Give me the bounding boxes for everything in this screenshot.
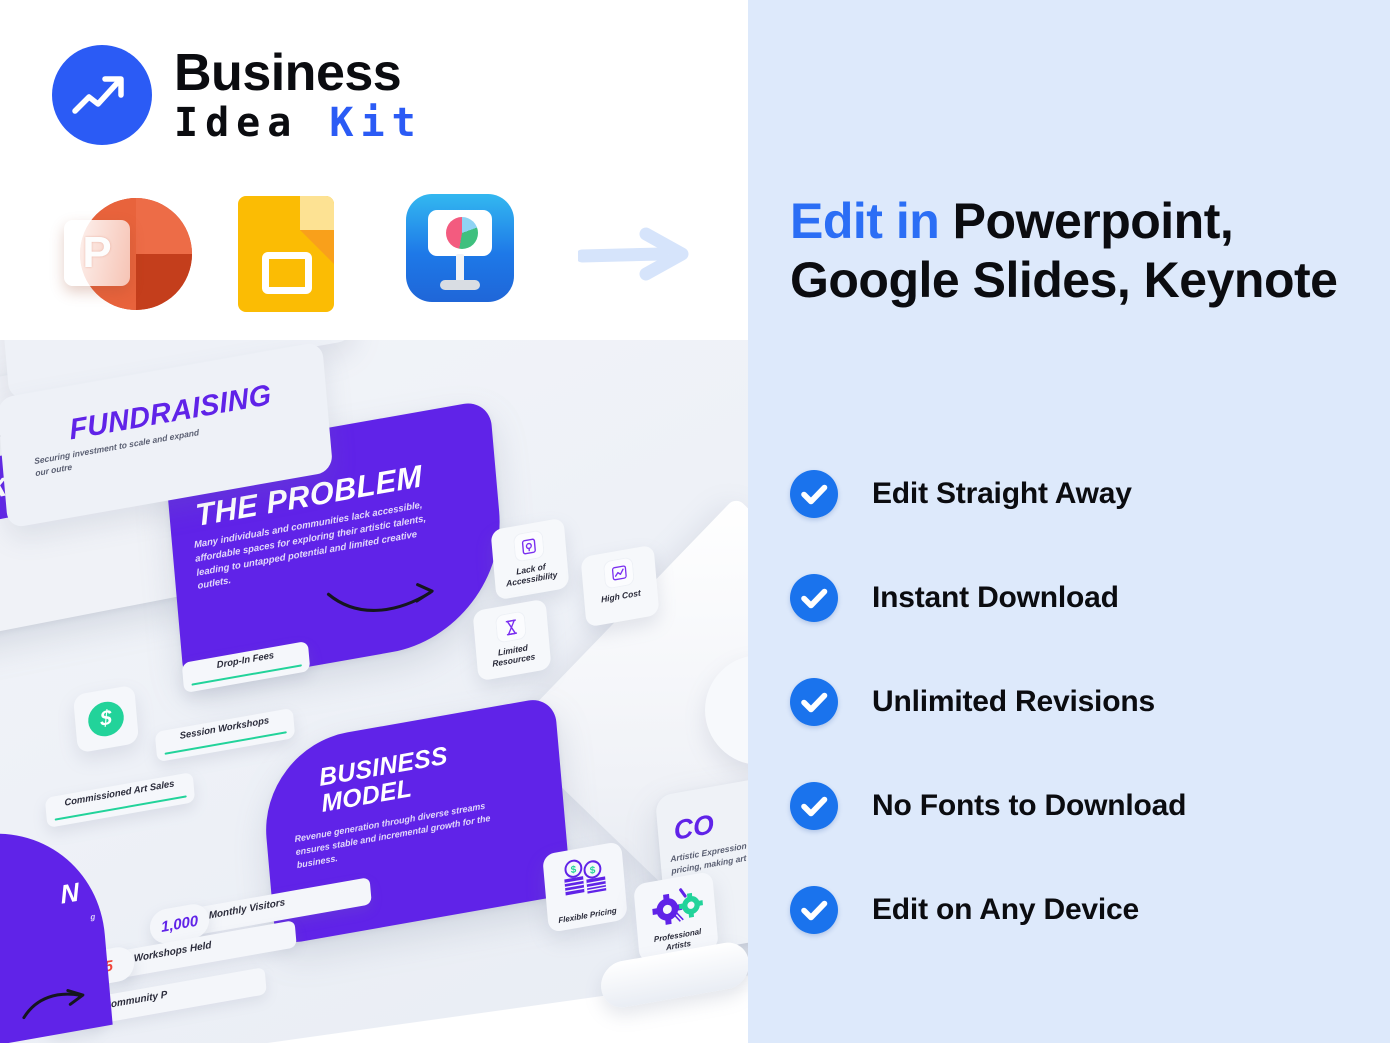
revenue-hub-node: $ (73, 685, 139, 754)
logo-wordmark: Business Idea Kit (174, 47, 423, 143)
competitive-title: CO (673, 809, 716, 847)
page-title: Edit in Powerpoint, Google Slides, Keyno… (790, 192, 1370, 309)
revenue-stream-label: Commissioned Art Sales (64, 778, 175, 808)
feature-item-instant-download: Instant Download (790, 546, 1370, 650)
logo-kit-text: Kit (329, 100, 422, 146)
check-circle-icon (790, 782, 838, 830)
check-circle-icon (790, 678, 838, 726)
logo-line-1: Business (174, 47, 423, 99)
check-circle-icon (790, 470, 838, 518)
rising-chart-icon (603, 556, 635, 589)
feature-label: Edit Straight Away (872, 477, 1132, 511)
card-limited-resources: Limited Resources (473, 599, 552, 682)
locked-document-icon (513, 529, 545, 562)
logo: Business Idea Kit (52, 45, 423, 145)
feature-label: Instant Download (872, 581, 1119, 615)
feature-item-unlimited-revisions: Unlimited Revisions (790, 650, 1370, 754)
feature-list: Edit Straight Away Instant Download Unli… (790, 442, 1370, 962)
promo-graphic: COMPANY NAME pitch deck THE PROBLEM Many… (0, 0, 1390, 1043)
traction-title: N (59, 876, 80, 910)
hourglass-icon (495, 610, 527, 643)
card-label: Limited Resources (480, 639, 547, 670)
revenue-stream-item: Commissioned Art Sales (45, 772, 195, 828)
card-label: High Cost (588, 585, 654, 606)
logo-line-2: Idea Kit (174, 103, 423, 143)
growth-chart-arrow-icon (52, 45, 152, 145)
curved-arrow-icon (326, 568, 448, 629)
card-label: Flexible Pricing (551, 904, 625, 926)
card-lack-of-accessibility: Lack of Accessibility (491, 518, 570, 601)
powerpoint-letter: P (82, 228, 111, 278)
keynote-icon (396, 190, 524, 318)
feature-item-no-fonts-to-download: No Fonts to Download (790, 754, 1370, 858)
traction-subtitle: g (16, 912, 96, 935)
header: Business Idea Kit P (0, 0, 748, 340)
revenue-stream-item: Session Workshops (155, 708, 295, 762)
money-stacks-icon: $ $ (557, 853, 612, 902)
svg-text:$: $ (589, 865, 596, 877)
stat-label: Community P (103, 989, 167, 1011)
arrow-right-icon (578, 224, 698, 284)
gears-icon (646, 881, 707, 933)
card-high-cost: High Cost (581, 545, 660, 628)
feature-label: Unlimited Revisions (872, 685, 1155, 719)
google-slides-icon (224, 190, 352, 318)
feature-item-edit-on-any-device: Edit on Any Device (790, 858, 1370, 962)
left-panel: COMPANY NAME pitch deck THE PROBLEM Many… (0, 0, 748, 1043)
svg-text:$: $ (570, 864, 577, 876)
dollar-coin-icon: $ (87, 699, 125, 739)
stat-label: Workshops Held (133, 940, 211, 965)
stat-item: Monthly Visitors 1,000 (149, 912, 152, 946)
headline-accent: Edit in (790, 193, 939, 249)
right-panel: Edit in Powerpoint, Google Slides, Keyno… (748, 0, 1390, 1043)
check-circle-icon (790, 574, 838, 622)
card-label: Lack of Accessibility (498, 558, 565, 589)
business-model-title: BUSINESS MODEL (318, 743, 451, 817)
check-circle-icon (790, 886, 838, 934)
app-compatibility-row: P (52, 190, 698, 318)
feature-label: No Fonts to Download (872, 789, 1186, 823)
powerpoint-icon: P (52, 190, 180, 318)
stat-label: Monthly Visitors (208, 897, 285, 921)
feature-label: Edit on Any Device (872, 893, 1139, 927)
card-flexible-pricing: $ $ Flexible Pricing (542, 841, 628, 933)
feature-item-edit-straight-away: Edit Straight Away (790, 442, 1370, 546)
